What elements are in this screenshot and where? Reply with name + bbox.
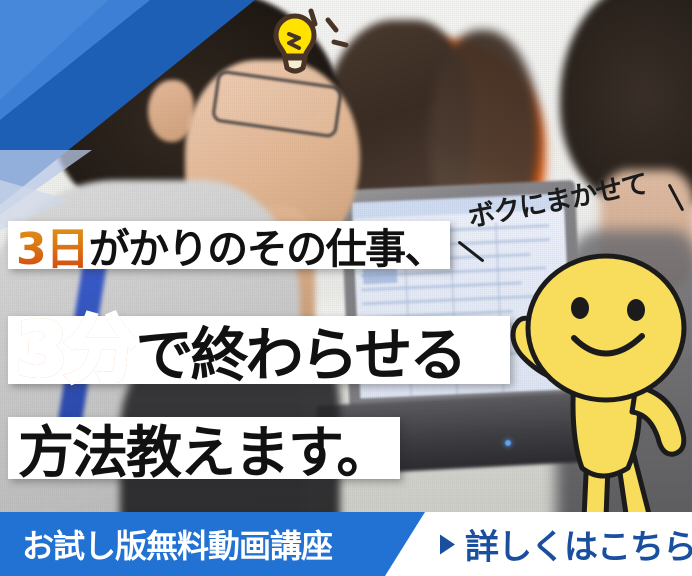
cta-bar: お試し版無料動画講座 詳しくはこちら — [0, 512, 692, 576]
headline-line-1-accent: 3日 — [16, 213, 89, 277]
cta-badge-label: お試し版無料動画講座 — [22, 521, 332, 567]
lightbulb-icon — [258, 4, 350, 82]
headline-line-2-accent: 3分 — [16, 317, 136, 384]
cta-badge[interactable]: お試し版無料動画講座 — [0, 512, 425, 576]
play-triangle-icon — [440, 534, 455, 554]
headline-line-1: 3日 がかりのその仕事、 — [8, 221, 450, 269]
headline-line-3: 方法教えます。 — [8, 417, 400, 479]
headline-line-1-rest: がかりのその仕事、 — [89, 215, 445, 275]
cta-link-label: 詳しくはこちら — [465, 520, 692, 569]
headline-line-3-text: 方法教えます。 — [18, 408, 390, 489]
cta-link[interactable]: 詳しくはこちら — [440, 520, 692, 569]
ad-banner: 3日 がかりのその仕事、 3分 で終わらせる 方法教えます。 ボクにまかせて — [0, 0, 692, 576]
headline-line-2-rest: で終わらせる — [136, 308, 465, 392]
mascot-character — [496, 236, 692, 536]
headline-line-2: 3分 で終わらせる — [8, 316, 510, 384]
